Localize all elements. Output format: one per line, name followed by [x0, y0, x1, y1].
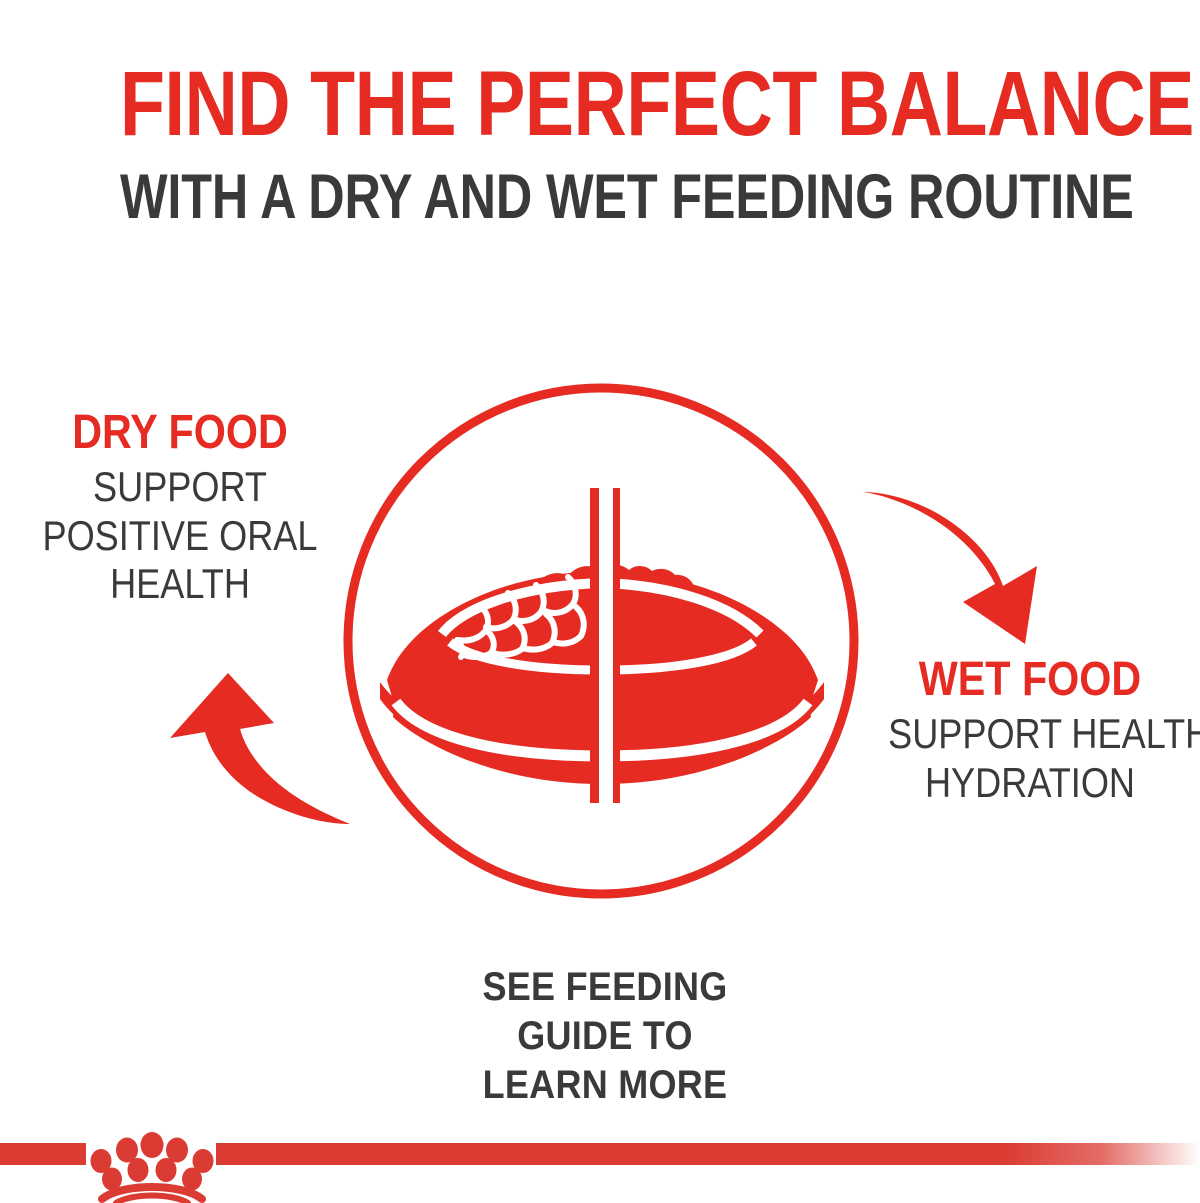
- bowl-divider-line: [590, 488, 620, 803]
- callout-wet-food-body: SUPPORT HEALTHY HYDRATION: [888, 710, 1172, 807]
- caption-line-1: SEE FEEDING: [421, 963, 790, 1012]
- callout-dry-food-body: SUPPORT POSITIVE ORAL HEALTH: [38, 463, 322, 609]
- callout-dry-food-line-1: SUPPORT: [38, 463, 322, 512]
- callout-dry-food-line-2: POSITIVE ORAL: [38, 512, 322, 561]
- callout-wet-food-line-2: HYDRATION: [888, 759, 1172, 808]
- footer-bar-right: [216, 1143, 1200, 1165]
- page-title: FIND THE PERFECT BALANCE: [120, 58, 1080, 150]
- callout-dry-food: DRY FOOD SUPPORT POSITIVE ORAL HEALTH: [15, 408, 345, 609]
- split-pet-food-bowl-icon: [330, 372, 875, 917]
- royal-canin-crown-logo: [82, 1115, 222, 1203]
- footer-bar-left: [0, 1143, 86, 1165]
- footer: [0, 1125, 1200, 1200]
- callout-wet-food: WET FOOD SUPPORT HEALTHY HYDRATION: [865, 655, 1195, 807]
- wet-food-half: [602, 564, 760, 674]
- infographic-page: FIND THE PERFECT BALANCE WITH A DRY AND …: [0, 0, 1200, 1200]
- page-subtitle: WITH A DRY AND WET FEEDING ROUTINE: [120, 166, 1080, 229]
- caption-line-3: LEARN MORE: [421, 1061, 790, 1110]
- header-block: FIND THE PERFECT BALANCE WITH A DRY AND …: [0, 58, 1200, 229]
- curved-arrow-up-left-icon: [150, 625, 380, 855]
- curved-arrow-down-right-icon: [845, 462, 1085, 672]
- callout-wet-food-line-1: SUPPORT HEALTHY: [888, 710, 1172, 759]
- callout-dry-food-title: DRY FOOD: [38, 408, 322, 459]
- callout-dry-food-line-3: HEALTH: [38, 560, 322, 609]
- feeding-guide-caption: SEE FEEDING GUIDE TO LEARN MORE: [400, 963, 810, 1109]
- caption-line-2: GUIDE TO: [421, 1012, 790, 1061]
